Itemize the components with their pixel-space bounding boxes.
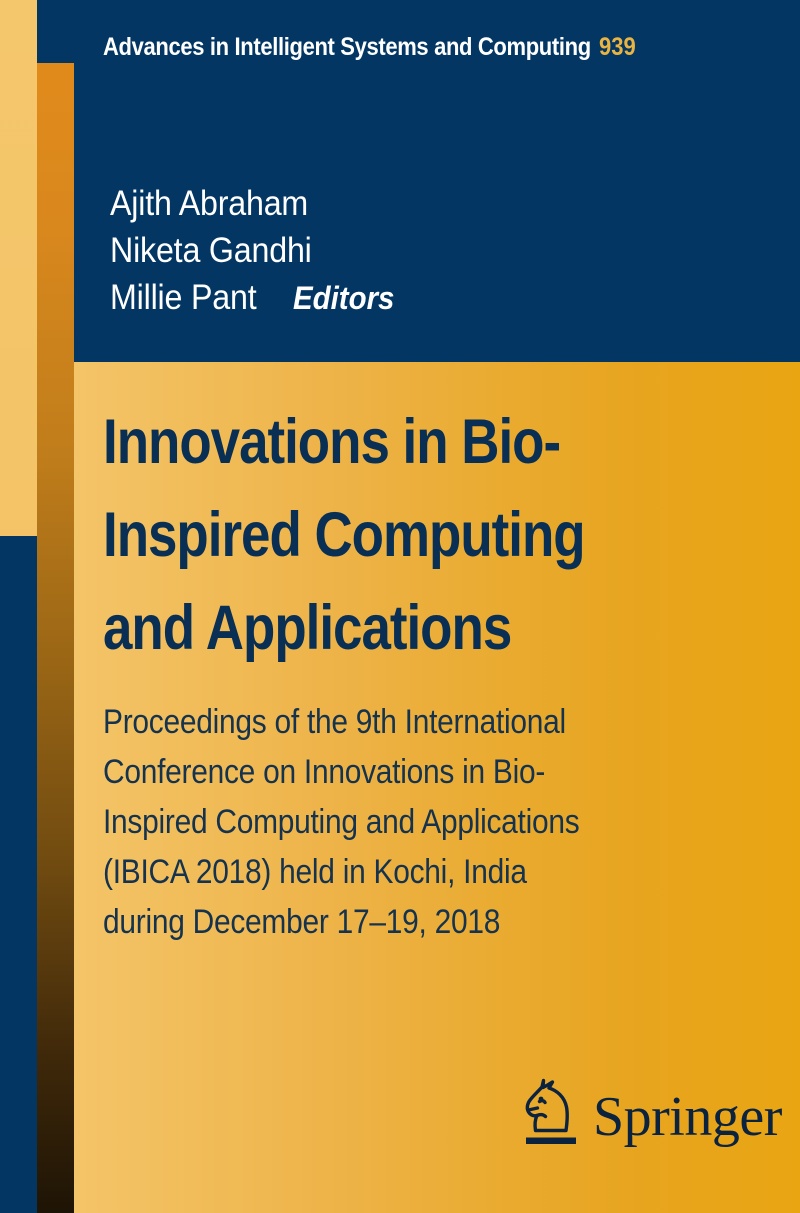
left-edge-navy-block xyxy=(0,536,37,1213)
springer-knight-icon xyxy=(519,1075,581,1153)
book-cover: Advances in Intelligent Systems and Comp… xyxy=(0,0,800,1213)
editors-role-label: Editors xyxy=(293,280,394,317)
series-line: Advances in Intelligent Systems and Comp… xyxy=(103,33,641,62)
book-subtitle-line: Conference on Innovations in Bio- xyxy=(103,747,684,797)
book-title-line: and Applications xyxy=(103,582,649,675)
book-subtitle: Proceedings of the 9th International Con… xyxy=(103,697,763,947)
series-title: Advances in Intelligent Systems and Comp… xyxy=(103,33,591,62)
spine-top-navy-block xyxy=(37,0,74,63)
book-subtitle-line: (IBICA 2018) held in Kochi, India xyxy=(103,847,684,897)
springer-wordmark: Springer xyxy=(593,1089,782,1145)
book-subtitle-line: Inspired Computing and Applications xyxy=(103,797,684,847)
editors-block: Ajith Abraham Niketa Gandhi Millie Pant … xyxy=(110,180,670,321)
book-title-line: Innovations in Bio- xyxy=(103,396,649,489)
book-title-line: Inspired Computing xyxy=(103,489,649,582)
book-title: Innovations in Bio- Inspired Computing a… xyxy=(103,396,753,675)
spine-orange-band xyxy=(37,63,74,1213)
editor-name: Niketa Gandhi xyxy=(110,227,625,274)
publisher-logo: Springer xyxy=(519,1075,782,1153)
series-volume-number: 939 xyxy=(599,33,636,62)
editor-name: Ajith Abraham xyxy=(110,180,625,227)
editor-row-last: Millie Pant Editors xyxy=(110,274,670,321)
book-subtitle-line: Proceedings of the 9th International xyxy=(103,697,684,747)
editor-name: Millie Pant xyxy=(110,274,257,321)
book-subtitle-line: during December 17–19, 2018 xyxy=(103,897,684,947)
